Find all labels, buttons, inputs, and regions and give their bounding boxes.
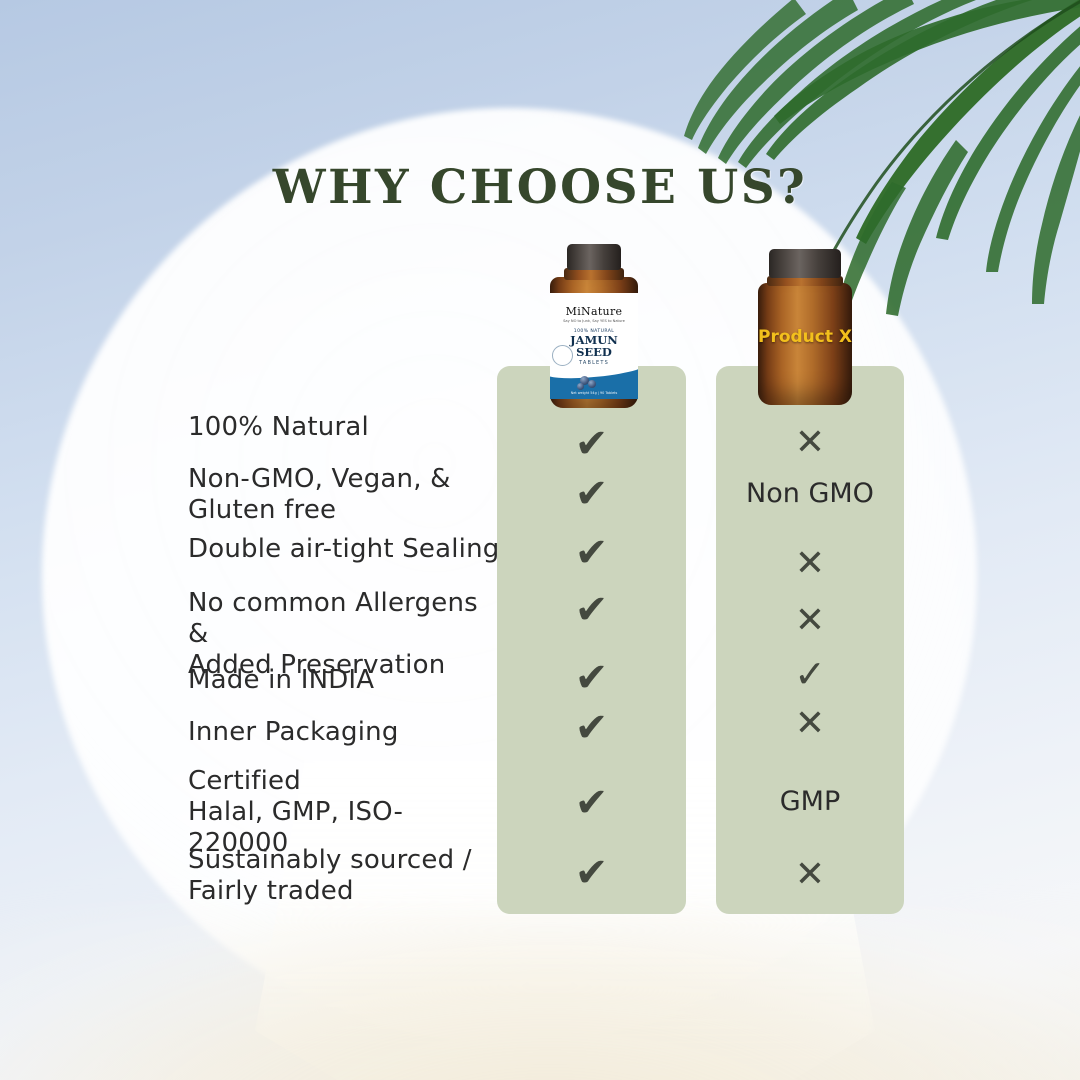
label-tagline: Say NO to Junk, Say YES to Nature xyxy=(550,319,638,323)
feature-label: Inner Packaging xyxy=(188,717,399,748)
infographic-canvas: WHY CHOOSE US? 100% Natural Non-GMO, Veg… xyxy=(0,0,1080,1080)
competitor-label-text: Product X xyxy=(757,327,853,347)
brand-mark-check: ✔ xyxy=(497,590,686,630)
other-mark-text: Non GMO xyxy=(716,479,904,509)
brand-mark-check: ✔ xyxy=(497,783,686,823)
berry-icon xyxy=(588,380,596,388)
label-net-weight: Net weight 54g | 90 Tablets xyxy=(550,391,638,395)
other-mark-cross: ✕ xyxy=(716,603,904,639)
berry-icon xyxy=(577,383,584,390)
other-mark-cross: ✕ xyxy=(716,857,904,893)
label-seal-icon xyxy=(552,345,573,366)
label-brand-name: MiNature xyxy=(550,305,638,318)
other-mark-cross: ✕ xyxy=(716,706,904,742)
feature-label: Non-GMO, Vegan, & Gluten free xyxy=(188,464,451,526)
label-wave xyxy=(550,368,638,380)
bottle-cap xyxy=(567,244,621,270)
feature-label: Sustainably sourced / Fairly traded xyxy=(188,845,472,907)
competitor-product-bottle: Product X xyxy=(757,249,853,405)
brand-product-bottle: MiNature Say NO to Junk, Say YES to Natu… xyxy=(546,244,642,408)
brand-mark-check: ✔ xyxy=(497,708,686,748)
other-mark-cross: ✕ xyxy=(716,425,904,461)
other-mark-text: GMP xyxy=(716,787,904,817)
feature-label: 100% Natural xyxy=(188,412,369,443)
brand-mark-check: ✔ xyxy=(497,533,686,573)
brand-mark-check: ✔ xyxy=(497,474,686,514)
other-mark-cross: ✕ xyxy=(716,546,904,582)
other-mark-check: ✓ xyxy=(716,655,904,693)
feature-label: Made in INDIA xyxy=(188,665,374,696)
bottle-cap xyxy=(769,249,841,278)
bottle-label-band: Net weight 54g | 90 Tablets xyxy=(550,368,638,399)
page-title: WHY CHOOSE US? xyxy=(0,160,1080,215)
brand-mark-check: ✔ xyxy=(497,853,686,893)
brand-mark-check: ✔ xyxy=(497,658,686,698)
brand-mark-check: ✔ xyxy=(497,424,686,464)
background-sand xyxy=(0,910,1080,1080)
feature-label: Double air-tight Sealing xyxy=(188,534,499,565)
